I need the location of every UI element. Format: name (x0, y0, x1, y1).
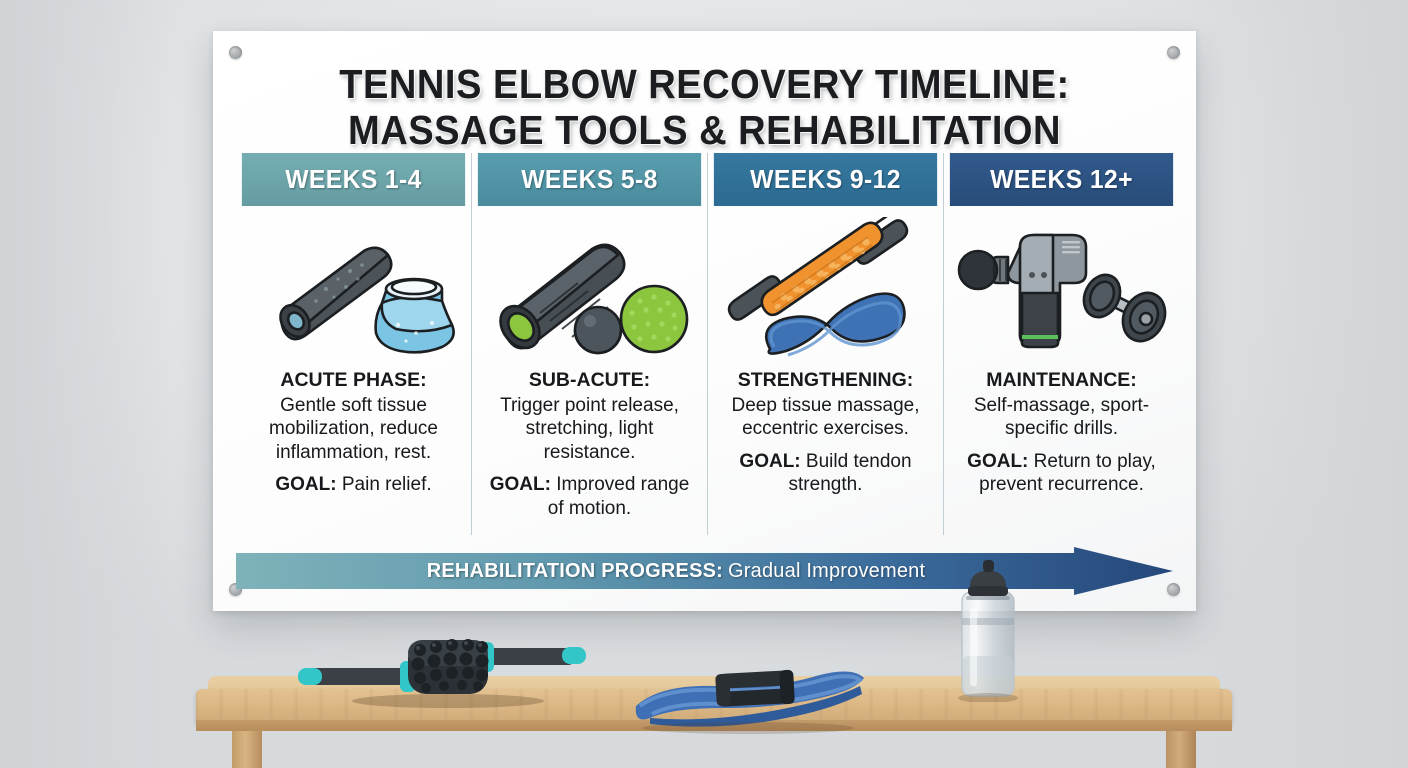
phase-description-subacute: Trigger point release, stretching, light… (500, 395, 679, 463)
column-text-weeks-1-4: ACUTE PHASE: Gentle soft tissue mobiliza… (246, 369, 461, 497)
column-body-weeks-5-8: SUB-ACUTE: Trigger point release, stretc… (472, 206, 707, 535)
wall-shadow-right (1178, 0, 1408, 768)
timeline-column-weeks-5-8: WEEKS 5-8 (472, 153, 708, 535)
column-text-weeks-9-12: STRENGTHENING: Deep tissue massage, ecce… (718, 369, 933, 497)
column-body-weeks-12-plus: MAINTENANCE: Self-massage, sport-specifi… (944, 206, 1179, 535)
phase-label-strengthening: STRENGTHENING: (722, 369, 929, 393)
poster-title-line-1: TENNIS ELBOW RECOVERY TIMELINE: (339, 61, 1069, 107)
muscle-roller-stick-and-resistance-band-illustration (718, 214, 933, 369)
timeline-column-weeks-9-12: WEEKS 9-12 (708, 153, 944, 535)
phase-description-strengthening: Deep tissue massage, eccentric exercises… (732, 395, 920, 440)
goal-text-subacute: Improved range of motion. (548, 474, 690, 519)
phase-label-maintenance: MAINTENANCE: (958, 369, 1165, 393)
poster-title-line-2: MASSAGE TOOLS & REHABILITATION (247, 107, 1161, 153)
poster-title: TENNIS ELBOW RECOVERY TIMELINE: MASSAGE … (247, 61, 1161, 153)
phase-description-maintenance: Self-massage, sport-specific drills. (974, 395, 1149, 440)
goal-line-subacute: GOAL: Improved range of motion. (486, 473, 693, 520)
phase-label-acute: ACUTE PHASE: (250, 369, 457, 393)
phase-label-subacute: SUB-ACUTE: (486, 369, 693, 393)
recovery-timeline-poster: TENNIS ELBOW RECOVERY TIMELINE: MASSAGE … (213, 31, 1196, 611)
goal-text-strengthening: Build tendon strength. (789, 451, 912, 496)
textured-roller-and-massage-balls-illustration (482, 214, 697, 369)
mounting-screw-top-left (229, 46, 242, 59)
goal-text-acute: Pain relief. (342, 474, 432, 495)
progress-bar-value: Gradual Improvement (728, 560, 925, 583)
foam-roller-and-ice-bag-illustration (246, 214, 461, 369)
goal-line-strengthening: GOAL: Build tendon strength. (722, 450, 929, 497)
spiky-massage-roller-stick (296, 628, 592, 710)
goal-label-maintenance: GOAL: (967, 451, 1028, 472)
mounting-screw-top-right (1167, 46, 1180, 59)
rehabilitation-progress-bar: REHABILITATION PROGRESS: Gradual Improve… (236, 547, 1173, 595)
scene: TENNIS ELBOW RECOVERY TIMELINE: MASSAGE … (0, 0, 1408, 768)
column-body-weeks-9-12: STRENGTHENING: Deep tissue massage, ecce… (708, 206, 943, 535)
column-text-weeks-12-plus: MAINTENANCE: Self-massage, sport-specifi… (954, 369, 1169, 497)
goal-label-strengthening: GOAL: (739, 451, 800, 472)
goal-label-acute: GOAL: (275, 474, 336, 495)
goal-label-subacute: GOAL: (490, 474, 551, 495)
column-header-weeks-12-plus: WEEKS 12+ (950, 153, 1173, 206)
column-header-weeks-9-12: WEEKS 9-12 (714, 153, 937, 206)
clear-water-bottle (946, 556, 1030, 702)
blue-resistance-band-with-handle (620, 664, 870, 736)
timeline-column-weeks-1-4: WEEKS 1-4 (236, 153, 472, 535)
table-leg-right (1166, 731, 1196, 768)
phase-description-acute: Gentle soft tissue mobilization, reduce … (269, 395, 438, 463)
wall-shadow-left (0, 0, 180, 768)
timeline-column-weeks-12-plus: WEEKS 12+ (944, 153, 1179, 535)
progress-bar-label: REHABILITATION PROGRESS: (427, 560, 723, 583)
timeline-grid: WEEKS 1-4 (236, 153, 1173, 535)
column-header-weeks-1-4: WEEKS 1-4 (242, 153, 465, 206)
goal-line-maintenance: GOAL: Return to play, prevent recurrence… (958, 450, 1165, 497)
column-body-weeks-1-4: ACUTE PHASE: Gentle soft tissue mobiliza… (236, 206, 471, 535)
column-text-weeks-5-8: SUB-ACUTE: Trigger point release, stretc… (482, 369, 697, 520)
goal-line-acute: GOAL: Pain relief. (250, 473, 457, 497)
massage-gun-and-dumbbell-illustration (954, 214, 1169, 369)
table-leg-left (232, 731, 262, 768)
column-header-weeks-5-8: WEEKS 5-8 (478, 153, 701, 206)
